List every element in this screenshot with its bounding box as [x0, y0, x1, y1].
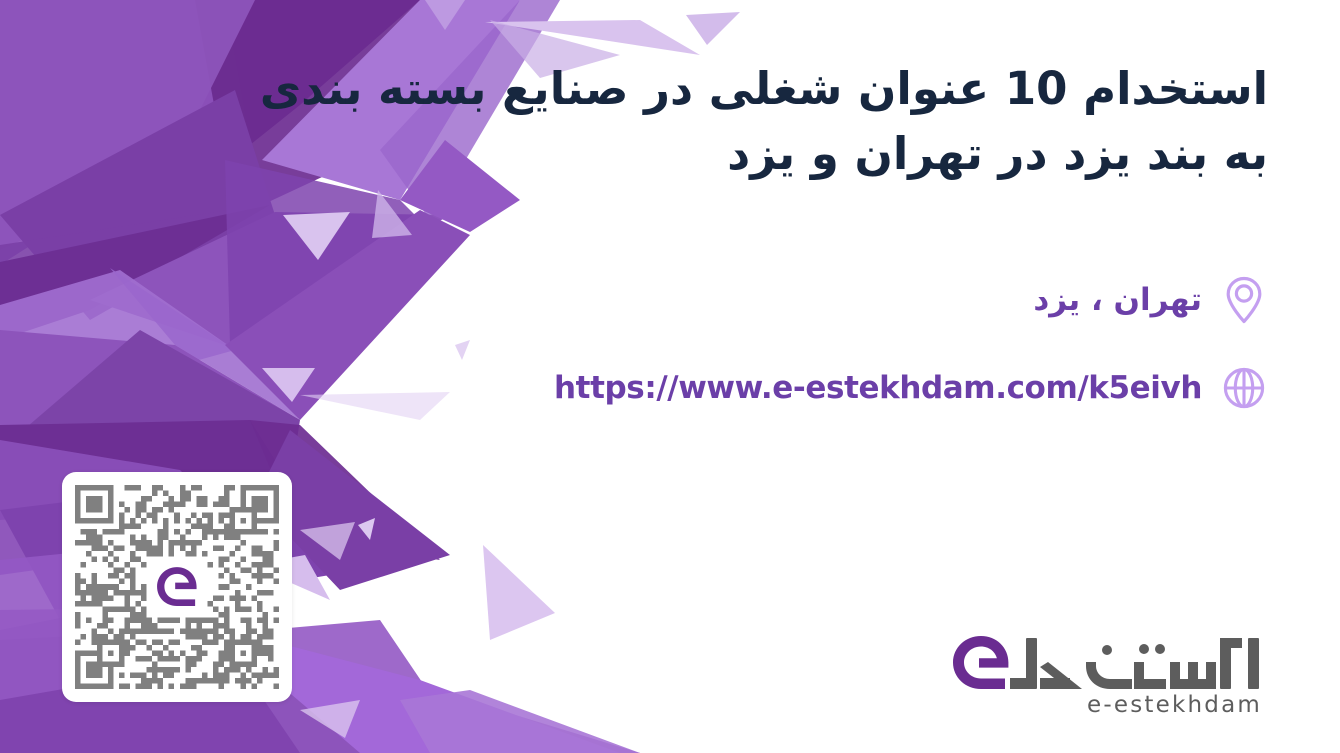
brand-subtitle: e-estekhdam: [948, 692, 1268, 718]
location-text: تهران ، یزد: [1033, 282, 1202, 318]
location-pin-icon: [1220, 272, 1268, 328]
globe-icon: [1220, 360, 1268, 416]
title-line-2: به بند یزد در تهران و یزد: [348, 121, 1268, 186]
url-row[interactable]: https://www.e-estekhdam.com/k5eivh: [348, 358, 1268, 418]
brand-logo: e-estekhdam: [948, 632, 1268, 718]
card-content: استخدام 10 عنوان شغلی در صنایع بسته بندی…: [0, 0, 1340, 753]
page-title: استخدام 10 عنوان شغلی در صنایع بسته بندی…: [348, 56, 1268, 187]
brand-wordmark-icon: [948, 632, 1268, 694]
title-line-1: استخدام 10 عنوان شغلی در صنایع بسته بندی: [348, 56, 1268, 121]
url-text[interactable]: https://www.e-estekhdam.com/k5eivh: [554, 370, 1202, 406]
qr-code-card[interactable]: [62, 472, 292, 702]
job-poster-card: استخدام 10 عنوان شغلی در صنایع بسته بندی…: [0, 0, 1340, 753]
meta-rows: تهران ، یزد https://www.e-estekhdam.com/…: [348, 270, 1268, 446]
location-row: تهران ، یزد: [348, 270, 1268, 330]
e-letter-logo-icon: [148, 558, 206, 616]
